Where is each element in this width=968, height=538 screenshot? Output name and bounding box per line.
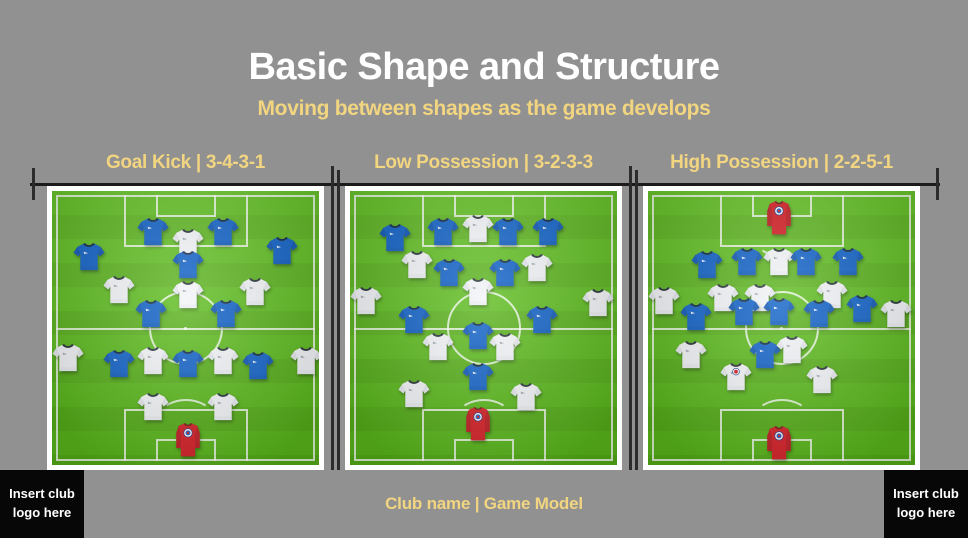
pitch-centre-spot [184,327,187,330]
player-shirt-icon[interactable] [400,250,434,280]
player-shirt-icon[interactable] [102,349,136,379]
player-shirt-icon[interactable] [206,392,240,422]
player-shirt-icon[interactable] [831,247,865,277]
player-shirt-icon[interactable] [461,362,495,392]
player-shirt-icon[interactable] [397,379,431,409]
player-shirt-icon[interactable] [72,242,106,272]
divider-tick-mid-4 [629,166,632,482]
player-shirt-icon[interactable] [509,382,543,412]
club-logo-placeholder-left[interactable]: Insert club logo here [0,470,84,538]
player-shirt-icon[interactable] [845,294,879,324]
player-shirt-icon[interactable] [206,346,240,376]
pitch-centre-spot [780,327,783,330]
club-logo-placeholder-right[interactable]: Insert club logo here [884,470,968,538]
player-shirt-icon[interactable] [238,277,272,307]
pitch-six-yard-box-top [156,195,216,217]
player-shirt-icon[interactable] [719,362,753,392]
player-shirt-icon[interactable] [289,346,319,376]
player-shirt-icon[interactable] [727,297,761,327]
player-shirt-icon[interactable] [648,286,681,316]
player-shirt-icon[interactable] [491,217,525,247]
player-shirt-icon[interactable] [520,253,554,283]
player-shirt-icon[interactable] [426,217,460,247]
player-shirt-icon[interactable] [265,236,299,266]
pitch-surface [648,191,915,465]
goalkeeper-shirt-icon[interactable] [175,422,201,458]
panel-heading-low-possession: Low Possession | 3-2-3-3 [345,152,622,174]
player-shirt-icon[interactable] [789,247,823,277]
player-shirt-icon[interactable] [171,349,205,379]
page-subtitle: Moving between shapes as the game develo… [0,97,968,121]
pitch-panel-low-possession[interactable] [345,186,622,470]
divider-tick-left [32,168,35,200]
divider-tick-mid-1 [331,166,334,482]
player-shirt-icon[interactable] [136,346,170,376]
divider-tick-right [936,168,939,200]
player-shirt-icon[interactable] [531,217,565,247]
player-shirt-icon[interactable] [674,340,708,370]
player-shirt-icon[interactable] [397,305,431,335]
player-shirt-icon[interactable] [378,223,412,253]
player-shirt-icon[interactable] [879,299,913,329]
panel-heading-goal-kick: Goal Kick | 3-4-3-1 [47,152,324,174]
goalkeeper-shirt-icon[interactable] [465,406,491,442]
player-shirt-icon[interactable] [136,392,170,422]
goalkeeper-shirt-icon[interactable] [766,200,792,236]
goalkeeper-shirt-icon[interactable] [766,425,792,461]
player-shirt-icon[interactable] [102,275,136,305]
player-shirt-icon[interactable] [805,365,839,395]
player-shirt-icon[interactable] [136,217,170,247]
player-shirt-icon[interactable] [762,297,796,327]
player-shirt-icon[interactable] [350,286,383,316]
panel-heading-high-possession: High Possession | 2-2-5-1 [643,152,920,174]
pitch-panel-high-possession[interactable] [643,186,920,470]
player-shirt-icon[interactable] [421,332,455,362]
player-shirt-icon[interactable] [679,302,713,332]
player-shirt-icon[interactable] [209,299,243,329]
player-shirt-icon[interactable] [775,335,809,365]
pitch-six-yard-box-bottom [454,439,514,461]
pitch-surface [350,191,617,465]
slide-header: Basic Shape and Structure Moving between… [0,0,968,140]
divider-tick-mid-5 [635,170,638,482]
player-shirt-icon[interactable] [241,351,275,381]
pitch-surface [52,191,319,465]
player-shirt-icon[interactable] [488,332,522,362]
player-shirt-icon[interactable] [171,250,205,280]
player-shirt-icon[interactable] [802,299,836,329]
pitch-panel-goal-kick[interactable] [47,186,324,470]
player-shirt-icon[interactable] [171,280,205,310]
player-shirt-icon[interactable] [581,288,615,318]
footer-caption: Club name | Game Model [84,494,884,514]
player-shirt-icon[interactable] [461,277,495,307]
player-shirt-icon[interactable] [525,305,559,335]
divider-tick-mid-2 [337,170,340,482]
page-title: Basic Shape and Structure [0,46,968,89]
player-shirt-icon[interactable] [134,299,168,329]
player-shirt-icon[interactable] [690,250,724,280]
player-shirt-icon[interactable] [52,343,85,373]
player-shirt-icon[interactable] [730,247,764,277]
player-shirt-icon[interactable] [206,217,240,247]
